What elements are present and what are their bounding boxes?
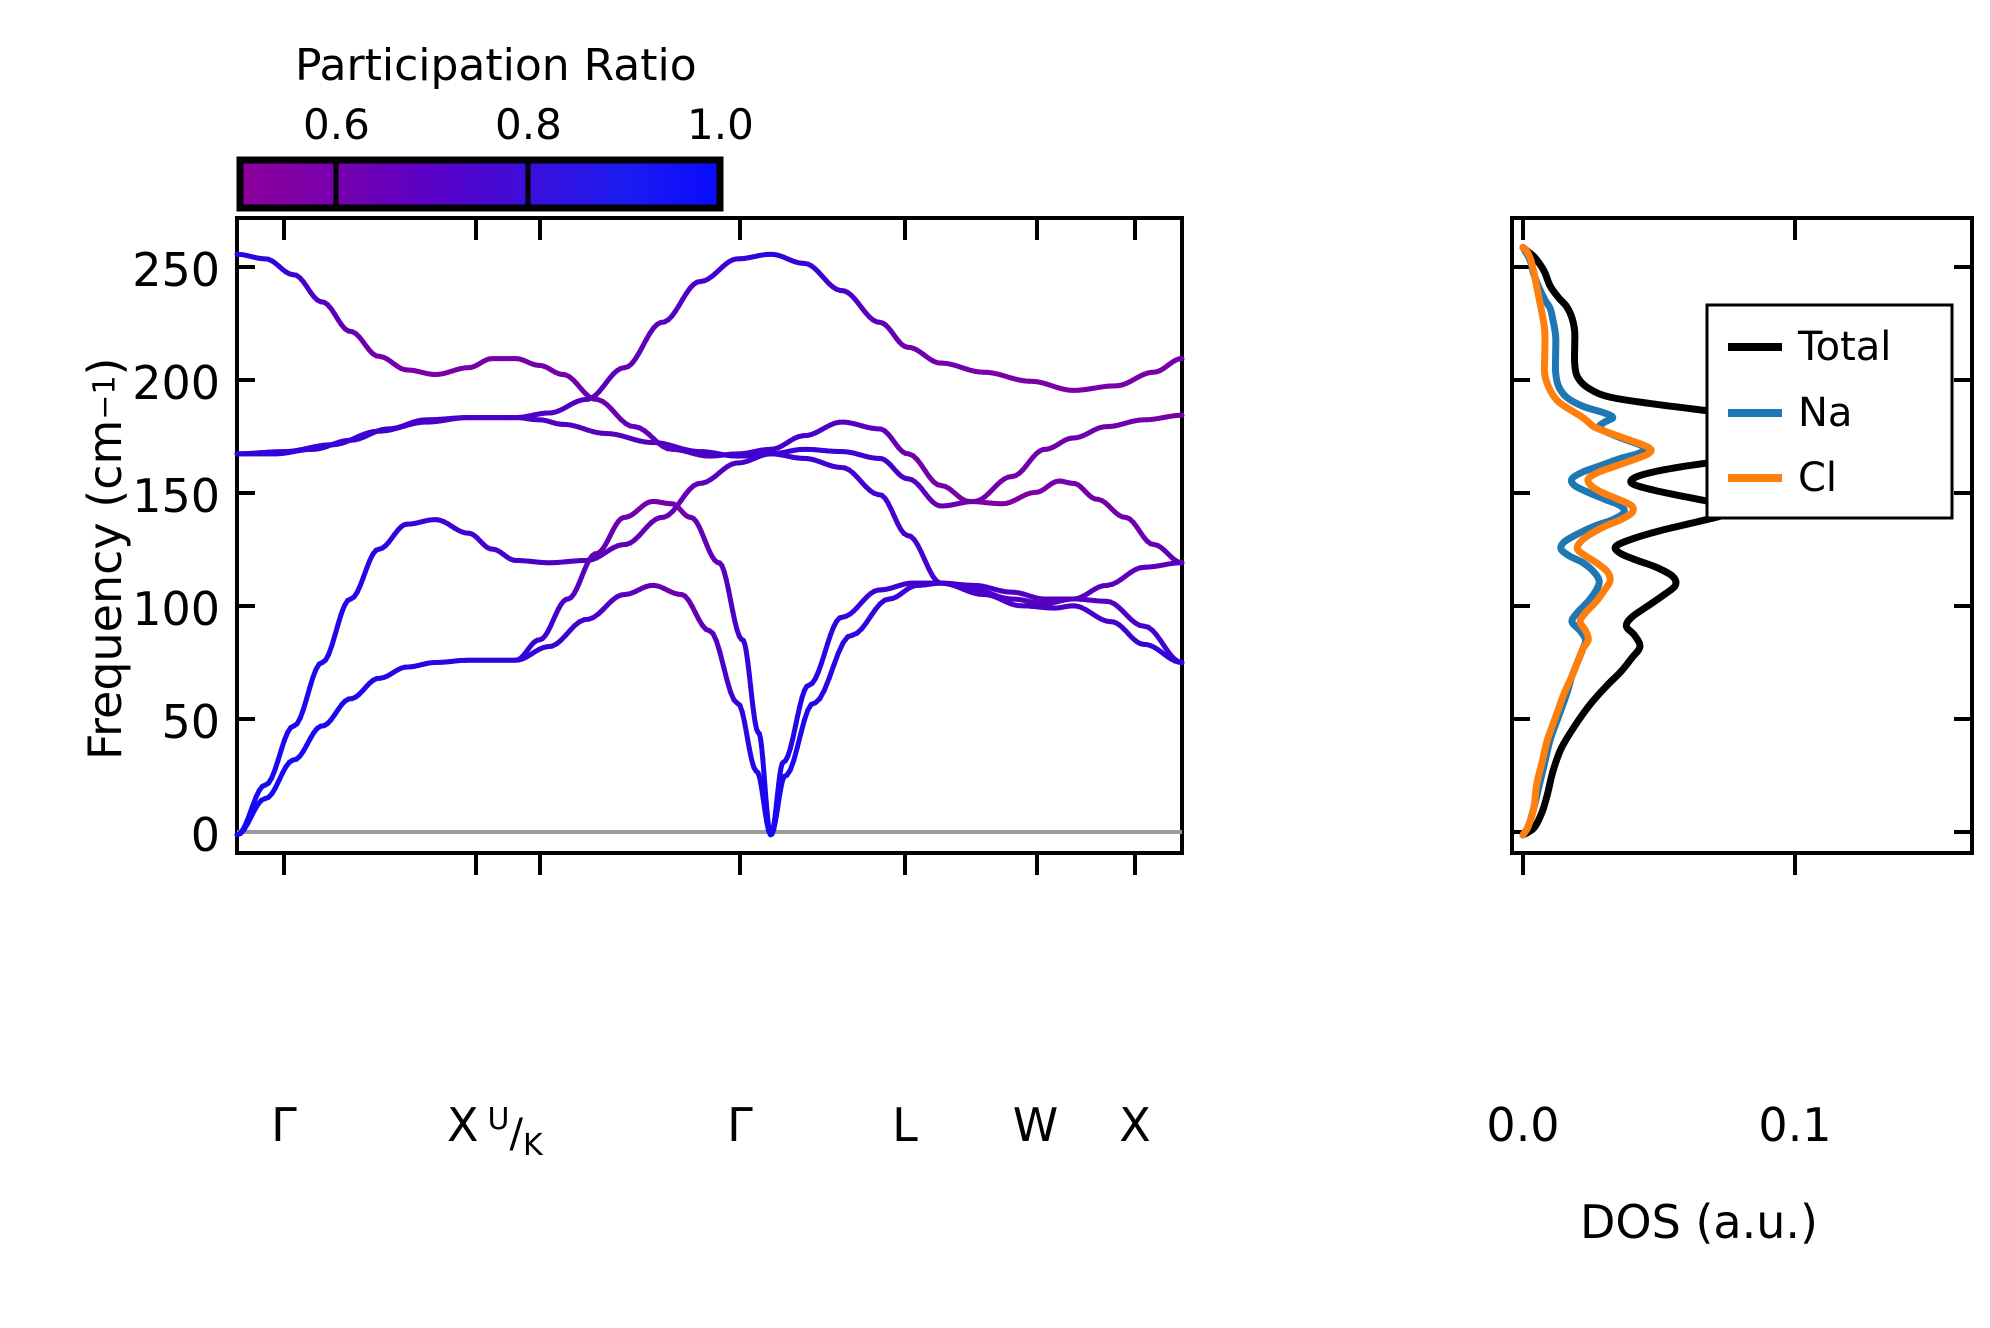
y-tick-250: 250 xyxy=(110,243,220,297)
x-tick-gamma-2: Γ xyxy=(700,1098,780,1152)
legend-label-na: Na xyxy=(1798,390,1852,436)
colorbar xyxy=(240,160,720,208)
x-tick-x-label: X xyxy=(447,1098,479,1152)
x-tick-k-label: K xyxy=(523,1128,543,1163)
x-tick-l: L xyxy=(865,1098,945,1152)
x-tick-gamma-1: Γ xyxy=(244,1098,324,1152)
x-tick-x: X xyxy=(1095,1098,1175,1152)
band-y-axis-label: Frequency (cm−1) xyxy=(78,358,132,761)
y-tick-0: 0 xyxy=(110,808,220,862)
dos-x-axis-label: DOS (a.u.) xyxy=(1580,1195,1818,1249)
legend-label-cl: Cl xyxy=(1798,455,1837,501)
dos-x-tick-0: 0.0 xyxy=(1453,1098,1593,1152)
y-axis-label-text: Frequency (cm xyxy=(78,420,132,760)
phonon-bands xyxy=(237,254,1182,835)
band-y-ticks xyxy=(237,267,255,832)
x-tick-u-label: U xyxy=(488,1102,510,1137)
band-panel-frame xyxy=(237,218,1182,853)
dos-x-tick-1: 0.1 xyxy=(1725,1098,1865,1152)
y-axis-label-superscript: −1 xyxy=(88,375,123,419)
legend-label-total: Total xyxy=(1798,324,1891,370)
y-axis-label-paren: ) xyxy=(78,358,132,376)
x-tick-xuk: XU/K xyxy=(447,1098,543,1152)
x-tick-w: W xyxy=(993,1098,1078,1152)
